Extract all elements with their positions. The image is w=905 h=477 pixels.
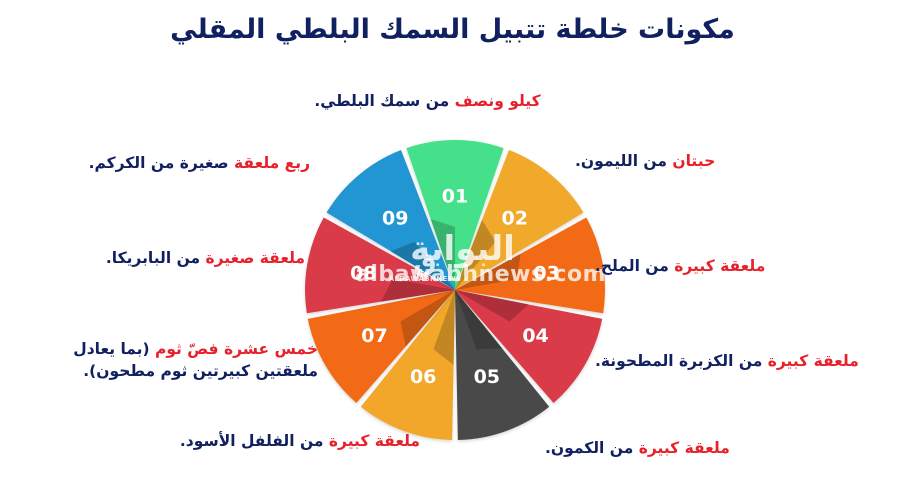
pie-chart: 010203040506070809 [300, 135, 610, 445]
callout-08-highlight: ملعقة صغيرة [206, 249, 305, 267]
callout-03-highlight: ملعقة كبيرة [674, 257, 765, 275]
callout-06-rest: من الفلفل الأسود. [180, 432, 329, 450]
callout-label-09: ربع ملعقة صغيرة من الكركم. [45, 152, 310, 174]
callout-label-06: ملعقة كبيرة من الفلفل الأسود. [120, 430, 420, 452]
pie-slice-number-08: 08 [350, 262, 376, 284]
callout-05-highlight: ملعقة كبيرة [639, 439, 730, 457]
callout-09-rest: صغيرة من الكركم. [89, 154, 234, 172]
callout-label-03: ملعقة كبيرة من الملح. [595, 255, 880, 277]
page-title: مكونات خلطة تتبيل السمك البلطي المقلي [0, 12, 905, 47]
pie-chart-svg: 010203040506070809 [300, 135, 610, 445]
pie-slice-number-09: 09 [382, 207, 408, 229]
callout-label-05: ملعقة كبيرة من الكمون. [545, 437, 865, 459]
pie-slice-number-03: 03 [533, 262, 559, 284]
pie-slice-number-02: 02 [502, 207, 528, 229]
callout-label-02: حبتان من الليمون. [575, 150, 855, 172]
pie-slice-number-06: 06 [410, 366, 436, 388]
callout-04-highlight: ملعقة كبيرة [768, 352, 859, 370]
callout-05-rest: من الكمون. [545, 439, 639, 457]
callout-06-highlight: ملعقة كبيرة [329, 432, 420, 450]
callout-03-rest: من الملح. [595, 257, 674, 275]
pie-slice-number-07: 07 [361, 325, 387, 347]
pie-slice-number-01: 01 [442, 186, 468, 208]
callout-07-highlight: خمس عشرة فصّ ثوم [155, 340, 318, 358]
callout-02-rest: من الليمون. [575, 152, 672, 170]
callout-02-highlight: حبتان [672, 152, 715, 170]
callout-08-rest: من البابريكا. [106, 249, 206, 267]
pie-slice-number-05: 05 [474, 366, 500, 388]
callout-01-highlight: كيلو ونصف [455, 92, 541, 110]
callout-label-07: خمس عشرة فصّ ثوم (بما يعادل ملعقتين كبير… [8, 338, 318, 383]
callout-label-01: كيلو ونصف من سمك البلطي. [255, 90, 600, 112]
callout-label-08: ملعقة صغيرة من البابريكا. [30, 247, 305, 269]
pie-slice-number-04: 04 [522, 325, 548, 347]
infographic-canvas: مكونات خلطة تتبيل السمك البلطي المقلي 01… [0, 0, 905, 477]
callout-label-04: ملعقة كبيرة من الكزبرة المطحونة. [595, 350, 895, 372]
callout-09-highlight: ربع ملعقة [234, 154, 310, 172]
callout-01-rest: من سمك البلطي. [314, 92, 454, 110]
callout-04-rest: من الكزبرة المطحونة. [595, 352, 768, 370]
